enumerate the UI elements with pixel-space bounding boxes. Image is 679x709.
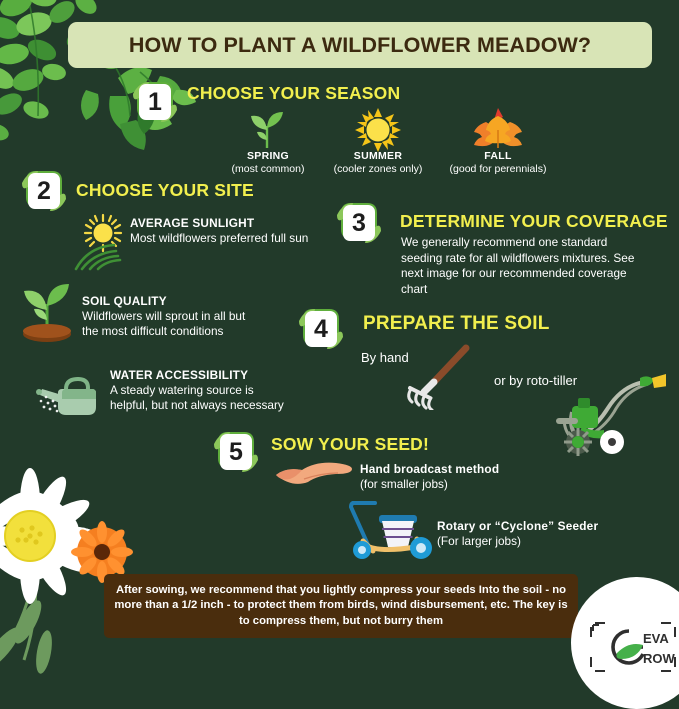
footer-note-banner: After sowing, we recommend that you ligh… xyxy=(104,574,578,638)
step-badge-4: 4 xyxy=(297,305,345,353)
sow-method-hand: Hand broadcast method (for smaller jobs) xyxy=(360,462,520,492)
step-number: 1 xyxy=(131,78,179,126)
flower-decoration xyxy=(0,452,152,684)
site-item-sunlight: AVERAGE SUNLIGHT Most wildflowers prefer… xyxy=(130,216,310,246)
roto-tiller-icon xyxy=(548,368,666,464)
season-label-summer: SUMMER (cooler zones only) xyxy=(313,150,443,176)
season-note: (good for perennials) xyxy=(433,163,563,176)
step-heading-4: PREPARE THE SOIL xyxy=(363,313,550,335)
header-banner: HOW TO PLANT A WILDFLOWER MEADOW? xyxy=(68,22,652,68)
site-item-water: WATER ACCESSIBILITY A steady watering so… xyxy=(110,368,285,413)
site-item-soil: SOIL QUALITY Wildflowers will sprout in … xyxy=(82,294,262,339)
step-heading-2: CHOOSE YOUR SITE xyxy=(76,180,254,201)
sow-method-note: (for smaller jobs) xyxy=(360,477,448,491)
sun-over-field-icon xyxy=(74,213,132,271)
step-badge-5: 5 xyxy=(212,428,260,476)
sow-method-note: (For larger jobs) xyxy=(437,534,521,548)
season-note: (cooler zones only) xyxy=(313,163,443,176)
open-hand-icon xyxy=(274,459,354,491)
season-name: SUMMER xyxy=(313,150,443,163)
step-3-body: We generally recommend one standard seed… xyxy=(401,235,649,298)
maple-leaf-icon xyxy=(472,108,524,152)
eva-grow-logo-mark: EVA ROW xyxy=(587,617,679,677)
step-number: 5 xyxy=(212,428,260,476)
rotary-seeder-icon xyxy=(343,497,439,561)
season-name: FALL xyxy=(433,150,563,163)
step-badge-3: 3 xyxy=(335,199,383,247)
site-item-title: AVERAGE SUNLIGHT xyxy=(130,216,310,231)
infographic-canvas: HOW TO PLANT A WILDFLOWER MEADOW? 1 CHOO… xyxy=(0,0,679,679)
step-number: 3 xyxy=(335,199,383,247)
logo-text-line1: EVA xyxy=(643,631,669,646)
sprout-in-soil-icon xyxy=(16,280,78,342)
sow-method-title: Hand broadcast method xyxy=(360,462,520,477)
brand-logo: EVA ROW xyxy=(565,583,679,687)
site-item-body: Most wildflowers preferred full sun xyxy=(130,231,308,245)
step-badge-2: 2 xyxy=(20,167,68,215)
step-heading-5: SOW YOUR SEED! xyxy=(271,434,429,455)
sun-icon xyxy=(355,108,401,152)
sow-method-title: Rotary or “Cyclone” Seeder xyxy=(437,519,637,534)
step-number: 4 xyxy=(297,305,345,353)
page-title: HOW TO PLANT A WILDFLOWER MEADOW? xyxy=(129,33,591,58)
season-label-fall: FALL (good for perennials) xyxy=(433,150,563,176)
step-number: 2 xyxy=(20,167,68,215)
watering-can-icon xyxy=(36,375,106,421)
site-item-title: WATER ACCESSIBILITY xyxy=(110,368,285,383)
step-badge-1: 1 xyxy=(131,78,179,126)
site-item-title: SOIL QUALITY xyxy=(82,294,262,309)
site-item-body: Wildflowers will sprout in all but the m… xyxy=(82,309,245,338)
logo-text-line2: ROW xyxy=(643,651,676,666)
step-heading-1: CHOOSE YOUR SEASON xyxy=(187,83,400,104)
footer-note-text: After sowing, we recommend that you ligh… xyxy=(114,583,568,629)
seedling-icon xyxy=(246,110,288,150)
site-item-body: A steady watering source is helpful, but… xyxy=(110,383,284,412)
sow-method-rotary: Rotary or “Cyclone” Seeder (For larger j… xyxy=(437,519,637,549)
rake-icon xyxy=(400,344,472,410)
step-heading-3: DETERMINE YOUR COVERAGE xyxy=(400,211,668,232)
